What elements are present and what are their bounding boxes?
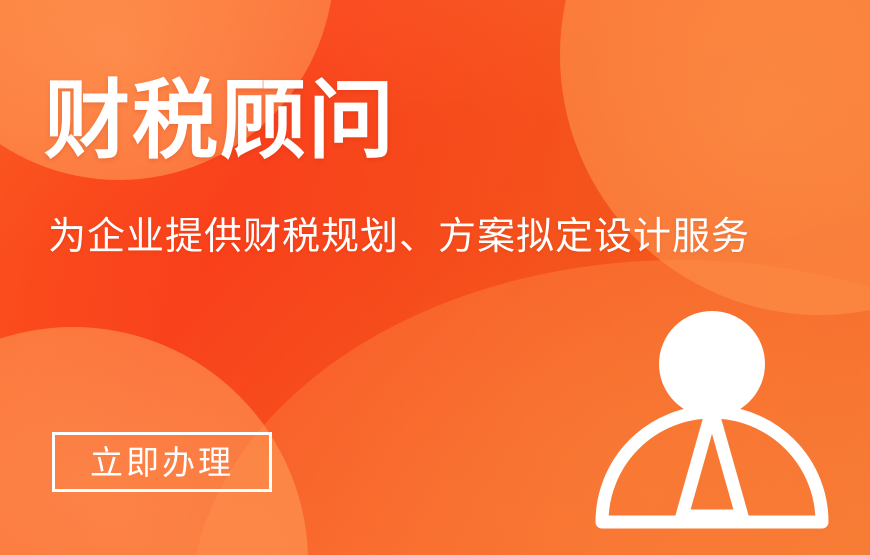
- tie-shape: [682, 410, 742, 516]
- apply-now-button[interactable]: 立即办理: [52, 432, 272, 492]
- banner-headline: 财税顾问: [44, 78, 396, 164]
- advisor-person-icon: [586, 298, 838, 546]
- promo-banner: 财税顾问 为企业提供财税规划、方案拟定设计服务 立即办理: [0, 0, 870, 555]
- banner-subheadline: 为企业提供财税规划、方案拟定设计服务: [48, 216, 750, 260]
- head-shape: [659, 311, 765, 417]
